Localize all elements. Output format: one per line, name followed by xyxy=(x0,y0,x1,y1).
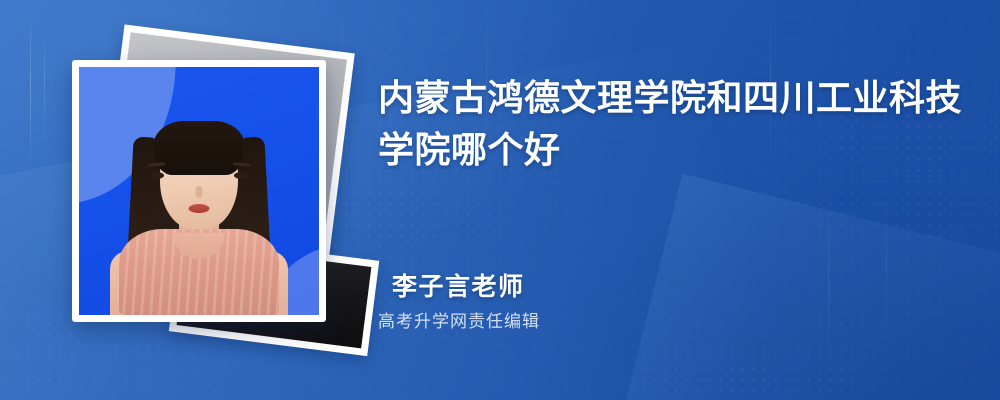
article-cover-banner: 内蒙古鸿德文理学院和四川工业科技学院哪个好 李子言老师 高考升学网责任编辑 xyxy=(0,0,1000,400)
author-name: 李子言老师 xyxy=(392,272,952,303)
author-byline: 李子言老师 高考升学网责任编辑 xyxy=(392,272,952,333)
portrait-nose xyxy=(196,186,203,198)
author-photo xyxy=(79,67,319,315)
photo-card-stack xyxy=(46,32,346,352)
page-title: 内蒙古鸿德文理学院和四川工业科技学院哪个好 xyxy=(378,72,962,176)
author-photo-card xyxy=(72,60,326,322)
portrait-illustration xyxy=(104,101,294,315)
portrait-eye-left xyxy=(149,172,164,179)
portrait-eye-right xyxy=(234,172,249,179)
portrait-hair-front xyxy=(153,121,245,175)
banner-text-column: 内蒙古鸿德文理学院和四川工业科技学院哪个好 李子言老师 高考升学网责任编辑 xyxy=(376,0,976,400)
author-role: 高考升学网责任编辑 xyxy=(378,312,952,332)
portrait-lips xyxy=(189,204,210,213)
